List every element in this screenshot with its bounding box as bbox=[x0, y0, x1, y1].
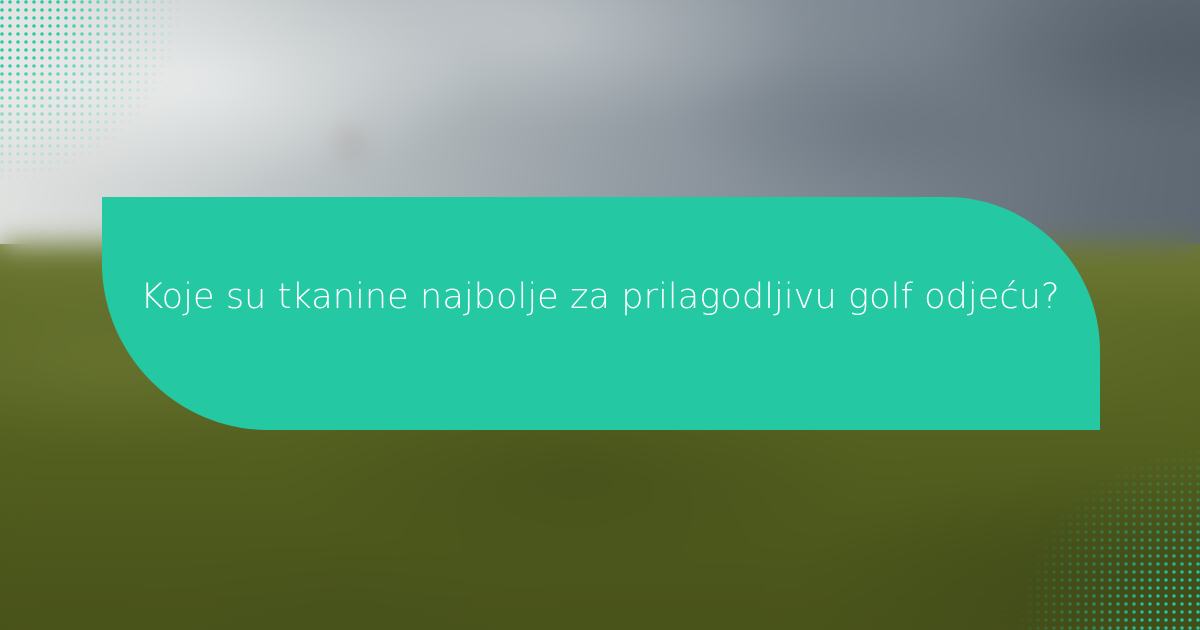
social-card: Koje su tkanine najbolje za prilagodljiv… bbox=[0, 0, 1200, 630]
blur-overlay bbox=[0, 0, 1200, 630]
background-photo bbox=[0, 0, 1200, 630]
